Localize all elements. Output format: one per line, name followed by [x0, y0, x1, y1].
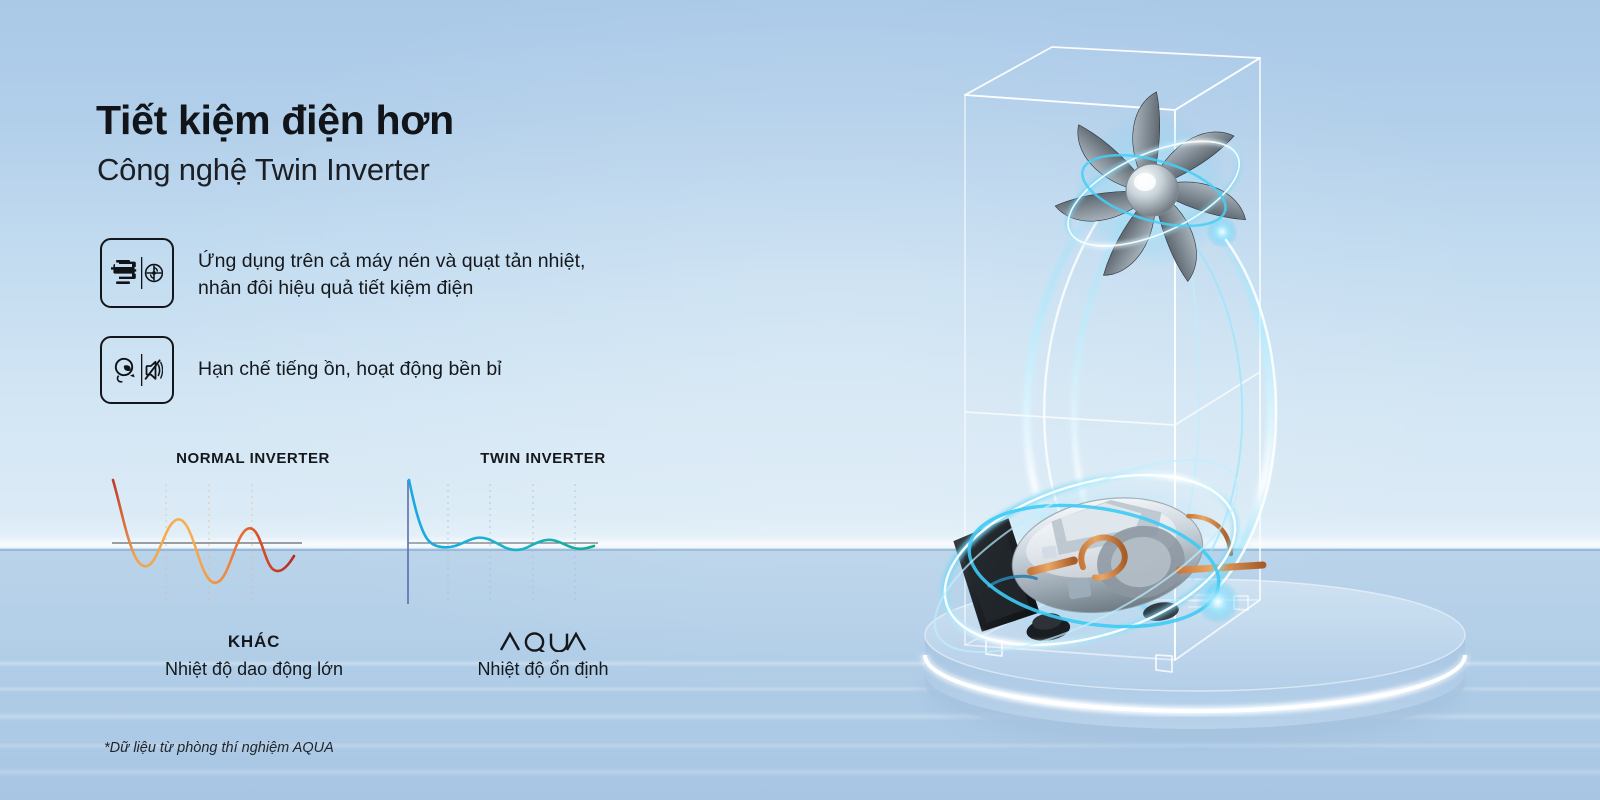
- icon-divider: [141, 257, 142, 289]
- compressor-fan-icon: [111, 256, 163, 290]
- comparison-charts: NORMAL INVERTER: [0, 450, 760, 710]
- icon-divider: [141, 354, 142, 386]
- chart-gridlines: [448, 484, 575, 604]
- chart-twin-inverter: TWIN INVERTER: [400, 450, 700, 680]
- content-column: Tiết kiệm điện hơn Công nghệ Twin Invert…: [0, 0, 760, 800]
- chart-description: Nhiệt độ ổn định: [386, 659, 700, 680]
- aqua-wordmark: [499, 631, 587, 652]
- feature-row-compressor-fan: Ứng dụng trên cả máy nén và quạt tản nhi…: [100, 238, 585, 308]
- aqua-logo: [386, 631, 700, 653]
- chart-brand-label: KHÁC: [104, 631, 404, 653]
- compressor-icon: [111, 260, 136, 284]
- product-scene: [790, 0, 1600, 800]
- cooling-fan: [1053, 90, 1254, 283]
- chart-title: TWIN INVERTER: [386, 450, 700, 467]
- chart-twin-plot: [400, 474, 610, 624]
- banner-stage: Tiết kiệm điện hơn Công nghệ Twin Invert…: [0, 0, 1600, 800]
- feature-text: Hạn chế tiếng ồn, hoạt động bền bỉ: [198, 336, 502, 383]
- chart-gridlines: [166, 484, 252, 604]
- leaf-shape: [124, 365, 131, 371]
- page-subtitle: Công nghệ Twin Inverter: [97, 152, 430, 188]
- feature-row-quiet: Hạn chế tiếng ồn, hoạt động bền bỉ: [100, 336, 502, 404]
- mute-speaker-icon: [146, 360, 163, 378]
- feature-icon-box: [100, 336, 174, 404]
- feature-icon-box: [100, 238, 174, 308]
- chart-footer: Nhiệt độ ổn định: [386, 631, 700, 680]
- page-title: Tiết kiệm điện hơn: [96, 97, 454, 144]
- chart-normal-plot: [104, 474, 314, 624]
- chart-footer: KHÁC Nhiệt độ dao động lớn: [104, 631, 404, 680]
- chart-curve-twin: [409, 480, 594, 550]
- chart-title: NORMAL INVERTER: [102, 450, 404, 467]
- feature-text: Ứng dụng trên cả máy nén và quạt tản nhi…: [198, 238, 585, 302]
- eco-mute-icon: [111, 353, 163, 387]
- chart-description: Nhiệt độ dao động lớn: [104, 659, 404, 680]
- chart-curve-normal: [113, 480, 294, 583]
- footnote: *Dữ liệu từ phòng thí nghiệm AQUA: [104, 740, 334, 756]
- chart-normal-inverter: NORMAL INVERTER: [104, 450, 404, 680]
